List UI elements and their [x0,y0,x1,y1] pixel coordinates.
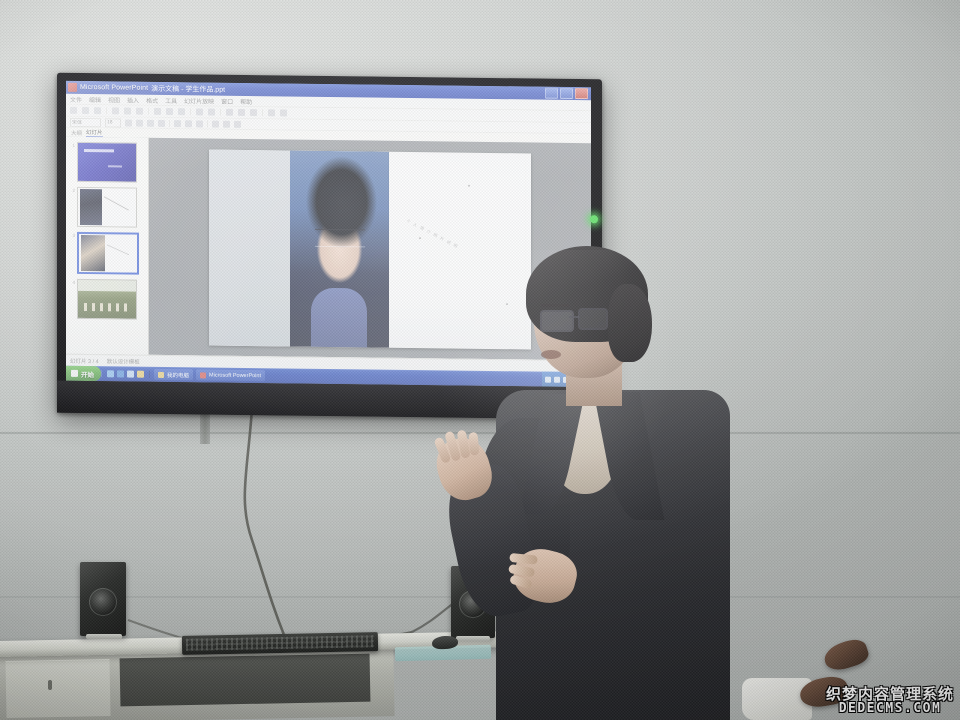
numbered-list-icon[interactable] [223,120,230,127]
slide-thumbnail-3-selected[interactable] [77,232,139,275]
taskbar-button-label: Microsoft PowerPoint [209,372,261,379]
bold-icon[interactable] [125,119,132,126]
align-center-icon[interactable] [185,120,192,127]
keyboard-keys [186,635,374,651]
eyeglasses-left-lens [540,310,574,332]
font-size-select[interactable]: 18 [105,118,121,127]
quick-launch-bar[interactable] [101,370,150,378]
slide-speck [468,185,470,187]
portrait-shirt [311,287,367,346]
slide-left-fill [209,149,290,346]
slide-number: 4 [70,279,75,285]
list-item[interactable]: 1 [70,142,144,183]
taskbar-button-powerpoint[interactable]: Microsoft PowerPoint [196,369,265,381]
thumb-diagonal-text [107,244,129,255]
toolbar-separator-2 [148,108,149,115]
save-icon[interactable] [94,107,101,114]
spellcheck-icon[interactable] [136,108,143,115]
portrait-glasses [315,229,365,247]
menu-item-tools[interactable]: 工具 [165,95,177,104]
desk-under-shelf [120,654,371,707]
insert-table-icon[interactable] [226,109,233,116]
document-title: 演示文稿 - 学生作品.ppt [151,83,225,94]
menu-item-slideshow[interactable]: 幻灯片放映 [184,96,214,105]
slide-portrait-photo[interactable] [290,150,390,347]
slide-thumbnail-2[interactable] [77,187,137,228]
print-preview-icon[interactable] [124,107,131,114]
bullet-list-icon[interactable] [212,120,219,127]
insert-chart-icon[interactable] [238,109,245,116]
watermark-english: DEDECMS.COM [826,702,954,716]
thumb-title-line [84,149,114,152]
thumb-photo [81,235,105,271]
taskbar-button-label: 我的电脑 [167,371,189,379]
speaker-left-base [86,634,122,639]
watermark: 织梦内容管理系统 DEDECMS.COM [826,687,954,716]
tab-outline[interactable]: 大纲 [71,128,82,136]
menu-item-view[interactable]: 视图 [108,95,120,104]
status-slide-counter: 幻灯片 3 / 4 [70,356,99,364]
menu-item-file[interactable]: 文件 [70,94,82,103]
redo-icon[interactable] [208,109,215,116]
thumb-group-row [84,303,130,312]
folder-icon [158,371,164,377]
slide-thumbnail-1[interactable] [77,142,137,183]
presenter-person [440,250,730,720]
titlebar-spacer [228,89,542,93]
speaker-left [80,562,126,636]
status-design-template: 默认设计模板 [107,357,140,365]
thumb-photo [80,189,102,225]
print-icon[interactable] [112,107,119,114]
finger [468,432,479,456]
align-right-icon[interactable] [196,120,203,127]
powerpoint-icon [68,83,77,92]
slide-number: 2 [70,187,75,193]
zoom-icon[interactable] [268,109,275,116]
align-left-icon[interactable] [174,120,181,127]
toolbar-separator-5 [262,109,263,116]
close-button[interactable] [575,88,588,99]
menu-item-format[interactable]: 格式 [146,95,158,104]
presenter-eyebrow [541,304,569,307]
italic-icon[interactable] [136,119,143,126]
font-color-icon[interactable] [234,120,241,127]
speaker-cone [89,588,117,616]
list-item[interactable]: 2 [70,187,144,228]
watermark-chinese: 织梦内容管理系统 [826,687,954,703]
menu-item-insert[interactable]: 插入 [127,95,139,104]
undo-icon[interactable] [196,108,203,115]
tab-slides[interactable]: 幻灯片 [86,128,103,137]
menu-item-edit[interactable]: 编辑 [89,95,101,104]
new-file-icon[interactable] [70,107,77,114]
toolbar-separator-3 [190,108,191,115]
slide-speck [419,237,421,239]
thumb-subtitle-line [108,165,122,167]
toolbar-separator [106,107,107,114]
start-button[interactable]: 开始 [66,366,101,381]
font-name-select[interactable]: 宋体 [70,117,101,126]
drawer-knob[interactable] [48,680,52,690]
slides-thumbnail-pane[interactable]: 1 2 [66,137,149,355]
media-player-icon[interactable] [127,371,134,378]
eyeglasses-right-lens [578,308,608,330]
powerpoint-icon [200,372,206,378]
start-button-label: 开始 [81,368,94,378]
app-title: Microsoft PowerPoint [80,84,148,92]
show-desktop-icon[interactable] [107,370,114,377]
cut-icon[interactable] [154,108,161,115]
classroom-presentation-scene: Microsoft PowerPoint 演示文稿 - 学生作品.ppt 文件 … [0,0,960,720]
slide-thumbnail-4[interactable] [77,279,137,320]
open-folder-icon[interactable] [82,107,89,114]
taskbar-button-mycomputer[interactable]: 我的电脑 [154,369,193,380]
underline-icon[interactable] [147,119,154,126]
format-separator [169,120,170,127]
thumb-diagonal-text [104,196,129,210]
menu-item-window[interactable]: 窗口 [221,96,233,105]
presenter-hair-side [608,284,652,362]
toolbar-separator-4 [220,109,221,116]
tv-wall-mount [200,410,210,444]
paste-icon[interactable] [178,108,185,115]
presenter-mouth [541,350,561,359]
thumb-sky [78,280,136,292]
shadow-icon[interactable] [158,119,165,126]
insert-picture-icon[interactable] [250,109,257,116]
slide-number: 3 [70,232,75,238]
list-item[interactable]: 3 [70,232,144,275]
format-separator-2 [207,120,208,127]
minimize-button[interactable] [545,88,558,99]
help-icon[interactable] [280,109,287,116]
slide-number: 1 [70,142,75,148]
ie-browser-icon[interactable] [117,370,124,377]
keyboard[interactable] [182,632,378,655]
power-led-indicator [590,215,598,223]
window-controls[interactable] [545,88,589,100]
folder-icon[interactable] [137,371,144,378]
copy-icon[interactable] [166,108,173,115]
list-item[interactable]: 4 [70,279,144,320]
desk-drawer[interactable] [5,659,110,718]
windows-flag-icon [71,370,78,377]
menu-item-help[interactable]: 帮助 [240,96,252,105]
maximize-button[interactable] [560,88,573,99]
